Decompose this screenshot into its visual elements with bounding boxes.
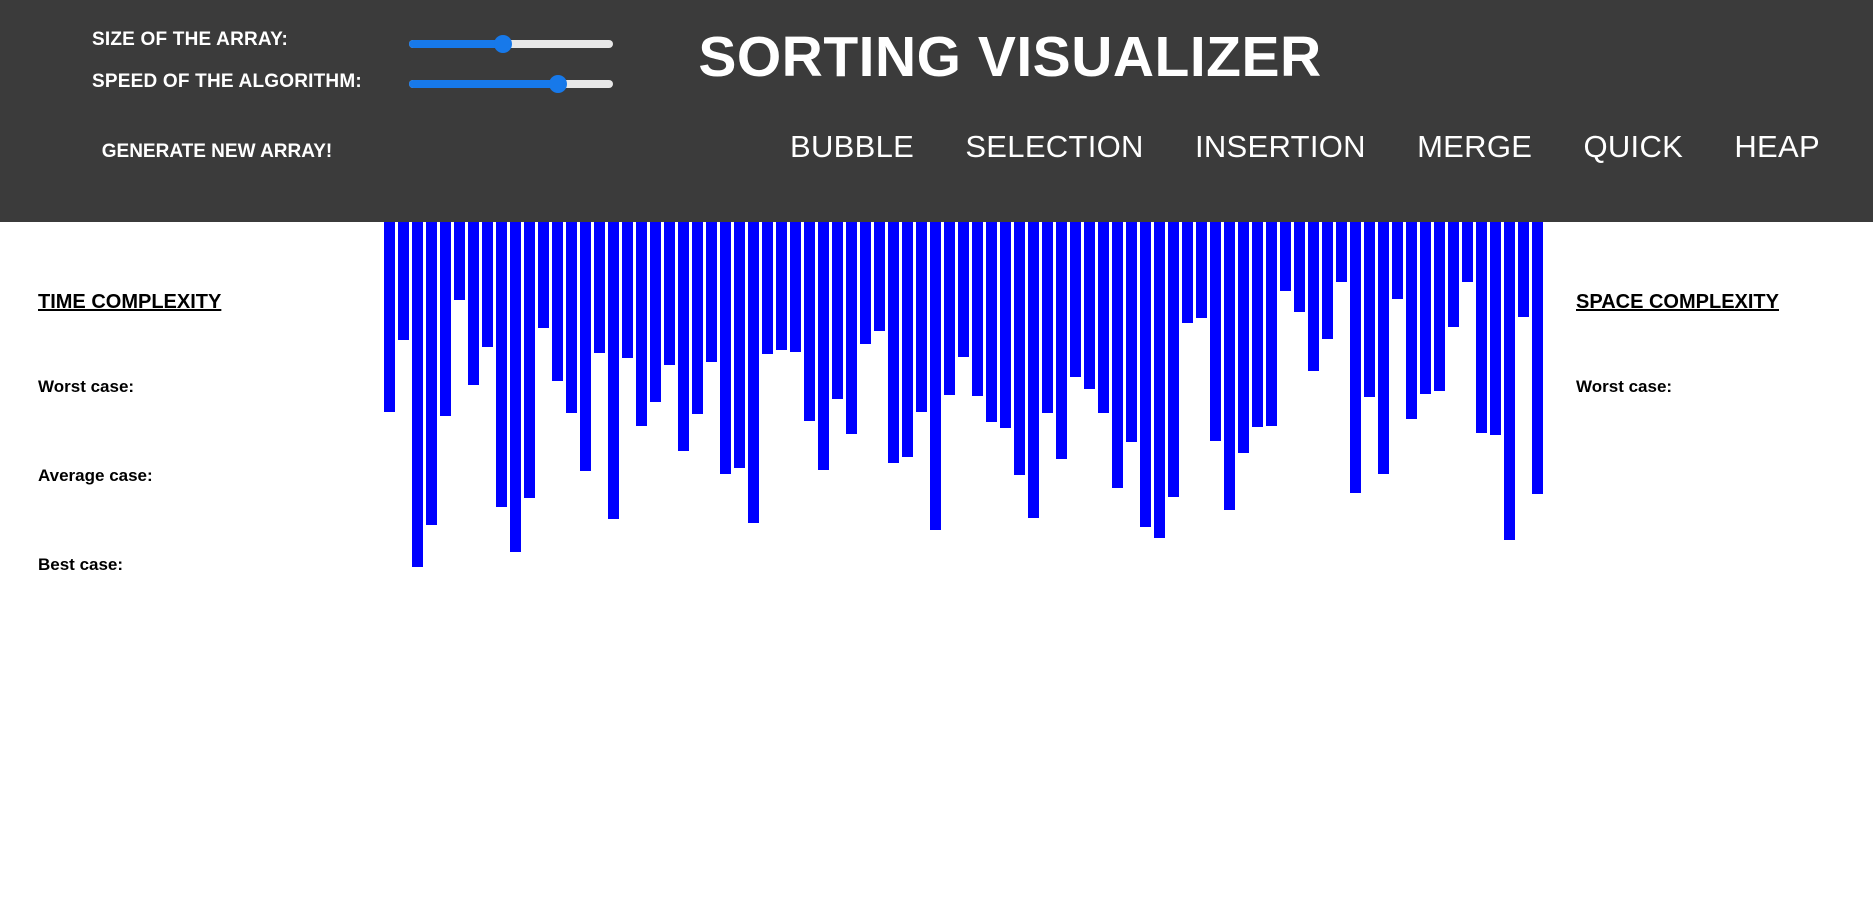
array-bar xyxy=(902,222,913,457)
array-bar xyxy=(692,222,703,414)
array-bar xyxy=(720,222,731,474)
array-bar xyxy=(1336,222,1347,282)
speed-slider[interactable] xyxy=(409,73,613,95)
time-best-case-row: Best case: xyxy=(38,554,338,575)
sorting-visualizer-app: SIZE OF THE ARRAY: SPEED OF THE ALGORITH… xyxy=(0,0,1873,902)
array-bar xyxy=(1532,222,1543,494)
array-size-control: SIZE OF THE ARRAY: xyxy=(92,28,412,51)
array-bar xyxy=(762,222,773,354)
array-bar xyxy=(1518,222,1529,317)
array-bar xyxy=(454,222,465,300)
array-bar xyxy=(818,222,829,470)
array-bar xyxy=(650,222,661,402)
time-complexity-title: TIME COMPLEXITY xyxy=(38,290,338,314)
array-bar xyxy=(734,222,745,468)
array-bar xyxy=(1182,222,1193,323)
array-bar xyxy=(580,222,591,471)
array-bar xyxy=(496,222,507,507)
array-bar xyxy=(1196,222,1207,318)
time-worst-case-row: Worst case: xyxy=(38,376,338,397)
array-bar xyxy=(1462,222,1473,282)
array-bar xyxy=(846,222,857,434)
array-bar xyxy=(1126,222,1137,442)
array-bar xyxy=(664,222,675,365)
time-complexity-panel: TIME COMPLEXITY Worst case: Average case… xyxy=(38,290,338,575)
array-bar xyxy=(608,222,619,519)
array-bar xyxy=(1504,222,1515,540)
array-bar xyxy=(1028,222,1039,518)
controls-group: SIZE OF THE ARRAY: SPEED OF THE ALGORITH… xyxy=(0,0,640,222)
array-bar xyxy=(1350,222,1361,493)
generate-new-array-button[interactable]: GENERATE NEW ARRAY! xyxy=(92,140,342,163)
array-bar xyxy=(790,222,801,352)
array-bar xyxy=(468,222,479,385)
array-bar xyxy=(1406,222,1417,419)
array-bar xyxy=(1070,222,1081,377)
array-bar xyxy=(510,222,521,552)
app-header: SIZE OF THE ARRAY: SPEED OF THE ALGORITH… xyxy=(0,0,1873,222)
array-size-slider-fill xyxy=(409,40,503,48)
array-bar xyxy=(538,222,549,328)
nav-item-merge[interactable]: MERGE xyxy=(1417,128,1532,166)
nav-item-heap[interactable]: HEAP xyxy=(1734,128,1820,166)
array-bar xyxy=(1014,222,1025,475)
array-bar xyxy=(1168,222,1179,497)
array-bar xyxy=(566,222,577,413)
array-bar xyxy=(1364,222,1375,397)
array-bar xyxy=(706,222,717,362)
array-bar xyxy=(1084,222,1095,389)
array-bar xyxy=(888,222,899,463)
array-bar xyxy=(1490,222,1501,435)
array-bar xyxy=(1140,222,1151,527)
array-bars-visualization xyxy=(384,222,1536,822)
array-bar xyxy=(1322,222,1333,339)
array-bar xyxy=(860,222,871,344)
array-bar xyxy=(1098,222,1109,413)
space-worst-case-row: Worst case: xyxy=(1576,376,1873,397)
array-bar xyxy=(874,222,885,331)
array-bar xyxy=(986,222,997,422)
nav-item-selection[interactable]: SELECTION xyxy=(965,128,1143,166)
array-bar xyxy=(1238,222,1249,453)
array-bar xyxy=(412,222,423,567)
array-bar xyxy=(1308,222,1319,371)
array-bar xyxy=(930,222,941,530)
array-bar xyxy=(426,222,437,525)
array-bar xyxy=(1266,222,1277,426)
speed-slider-thumb[interactable] xyxy=(549,75,567,93)
speed-slider-fill xyxy=(409,80,558,88)
array-bar xyxy=(1420,222,1431,394)
space-complexity-panel: SPACE COMPLEXITY Worst case: xyxy=(1576,290,1873,397)
array-bar xyxy=(1448,222,1459,327)
array-bar xyxy=(1392,222,1403,299)
array-size-slider-thumb[interactable] xyxy=(494,35,512,53)
array-bar xyxy=(678,222,689,451)
time-average-case-row: Average case: xyxy=(38,465,338,486)
algorithm-nav: BUBBLESELECTIONINSERTIONMERGEQUICKHEAP xyxy=(790,128,1820,166)
space-complexity-title: SPACE COMPLEXITY xyxy=(1576,290,1873,314)
array-bar xyxy=(1294,222,1305,312)
speed-control: SPEED OF THE ALGORITHM: xyxy=(92,70,412,93)
array-bar xyxy=(1056,222,1067,459)
array-bar xyxy=(1378,222,1389,474)
array-bar xyxy=(944,222,955,395)
array-bar xyxy=(552,222,563,381)
array-bar xyxy=(1224,222,1235,510)
array-bar xyxy=(1210,222,1221,441)
nav-item-bubble[interactable]: BUBBLE xyxy=(790,128,914,166)
array-bar xyxy=(776,222,787,350)
array-bar xyxy=(398,222,409,340)
array-bar xyxy=(832,222,843,399)
array-bar xyxy=(524,222,535,498)
array-bar xyxy=(804,222,815,421)
array-bar xyxy=(440,222,451,416)
array-bar xyxy=(622,222,633,358)
array-bar xyxy=(1476,222,1487,433)
array-bar xyxy=(636,222,647,426)
page-title: SORTING VISUALIZER xyxy=(640,26,1380,88)
array-size-slider[interactable] xyxy=(409,33,613,55)
array-bar xyxy=(1154,222,1165,538)
array-bar xyxy=(958,222,969,357)
nav-item-insertion[interactable]: INSERTION xyxy=(1195,128,1366,166)
array-size-label: SIZE OF THE ARRAY: xyxy=(92,28,288,51)
array-bar xyxy=(1000,222,1011,428)
array-bar xyxy=(594,222,605,353)
array-bar xyxy=(1252,222,1263,427)
array-bar xyxy=(384,222,395,412)
nav-item-quick[interactable]: QUICK xyxy=(1583,128,1683,166)
array-bar xyxy=(748,222,759,523)
array-bar xyxy=(482,222,493,347)
array-bar xyxy=(916,222,927,412)
array-bar xyxy=(1112,222,1123,488)
array-bar xyxy=(1280,222,1291,291)
array-bar xyxy=(1434,222,1445,391)
array-bar xyxy=(1042,222,1053,413)
array-bar xyxy=(972,222,983,396)
speed-label: SPEED OF THE ALGORITHM: xyxy=(92,70,362,93)
